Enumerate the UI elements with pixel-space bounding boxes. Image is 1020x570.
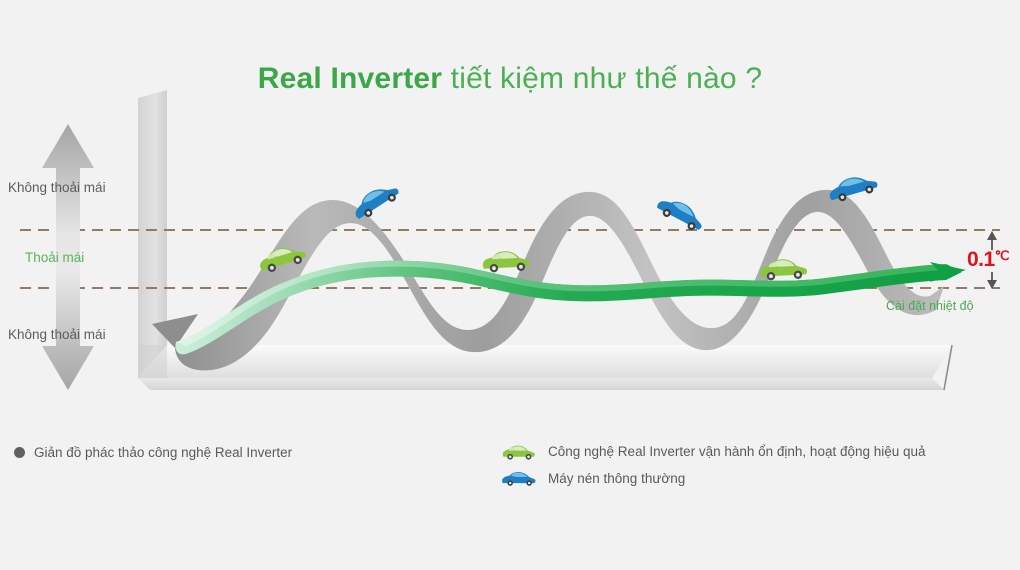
chart-legend: Công nghệ Real Inverter vận hành ổn định… (500, 438, 926, 492)
stage-corner-shadow (138, 345, 167, 378)
green-car-icon (482, 250, 530, 273)
temperature-delta-value: 0.1 (967, 248, 995, 271)
legend-item-conventional: Máy nén thông thường (500, 465, 926, 492)
temperature-delta-badge: 0.1℃ (967, 249, 1009, 270)
axis-label-uncomfortable-bottom: Không thoải mái (8, 327, 106, 342)
green-car-icon (500, 441, 538, 463)
temperature-delta-unit: ℃ (995, 248, 1010, 263)
stage-floor-front (138, 378, 944, 390)
stage-floor-top (138, 345, 952, 378)
arrow-down-icon (987, 272, 997, 289)
blue-car-icon (349, 179, 401, 223)
blue-car-icon (654, 193, 707, 234)
infographic-canvas: Real Inverter tiết kiệm như thế nào ? (0, 0, 1020, 570)
comfort-chart (0, 0, 1020, 440)
setpoint-label: Cài đặt nhiệt độ (886, 299, 974, 313)
blue-car-icon (500, 468, 538, 490)
axis-label-uncomfortable-top: Không thoải mái (8, 180, 106, 195)
bullet-dot-icon (14, 447, 25, 458)
legend-item-inverter: Công nghệ Real Inverter vận hành ổn định… (500, 438, 926, 465)
diagram-note: Giản đồ phác thảo công nghệ Real Inverte… (14, 445, 292, 460)
diagram-note-text: Giản đồ phác thảo công nghệ Real Inverte… (34, 445, 292, 460)
legend-item-inverter-label: Công nghệ Real Inverter vận hành ổn định… (548, 444, 926, 459)
axis-label-comfortable: Thoải mái (25, 250, 84, 265)
legend-item-conventional-label: Máy nén thông thường (548, 471, 685, 486)
blue-car-icon (826, 171, 879, 204)
